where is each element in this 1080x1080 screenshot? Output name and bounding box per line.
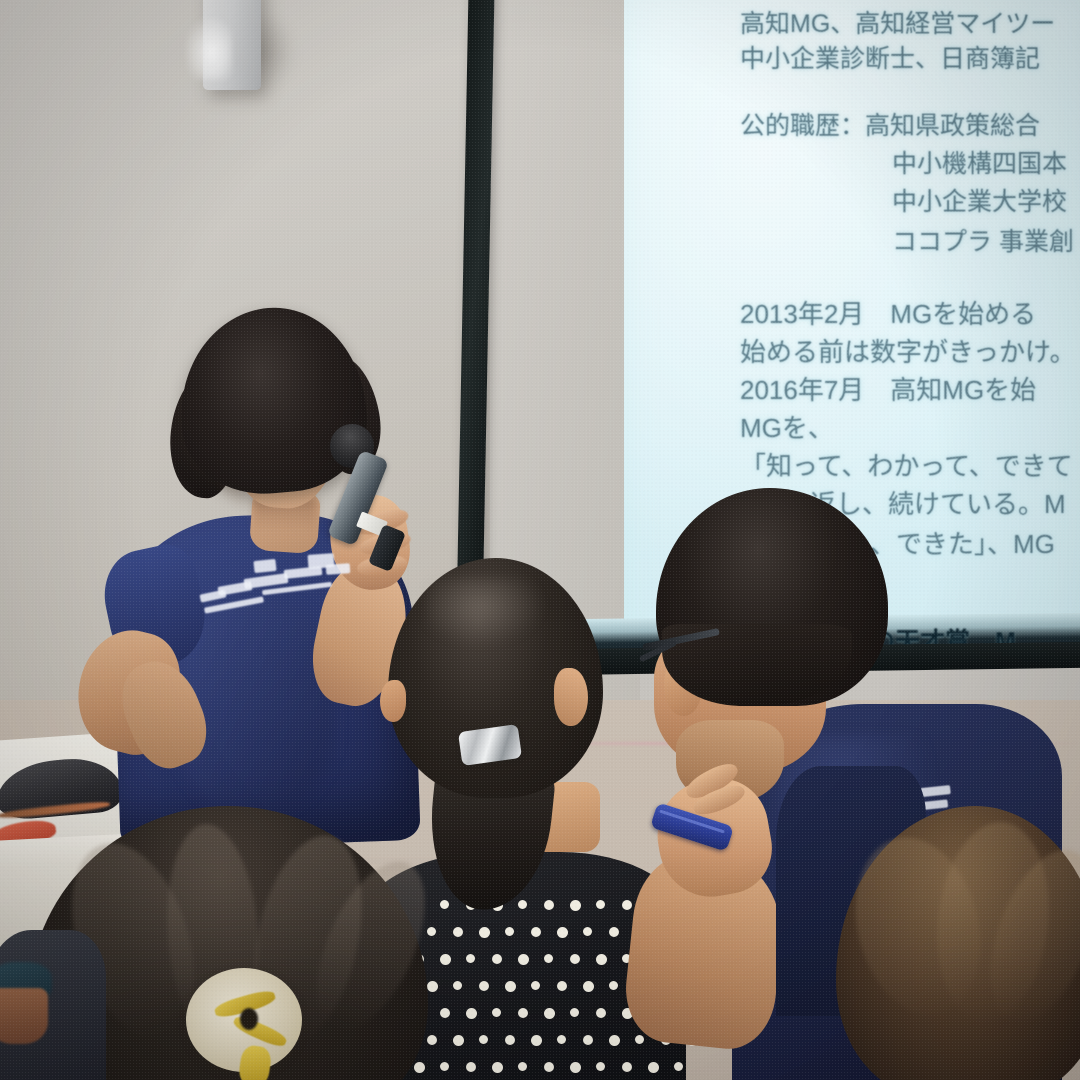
polka-dot [609, 1035, 620, 1046]
polka-dot [518, 954, 529, 965]
slide-line-0: 高知MG、高知経営マイツー [740, 4, 1055, 40]
polka-dot [596, 1062, 605, 1071]
polka-dot [557, 981, 567, 991]
polka-dot [544, 954, 553, 963]
slide-line-1: 中小企業診断士、日商簿記 [740, 39, 1040, 75]
polka-dot [622, 1062, 632, 1072]
polka-dot [570, 900, 581, 911]
polka-dot [505, 927, 514, 936]
polka-dot [557, 927, 568, 938]
polka-dot [609, 981, 618, 990]
left-edge-brown-object [0, 988, 48, 1044]
polka-dot [479, 1035, 488, 1044]
polka-dot [544, 900, 554, 910]
claw-clip-opening [240, 1008, 258, 1030]
presenter-shirt-graphic [196, 552, 356, 618]
polka-dot [544, 1062, 554, 1072]
slide-line-6: 2013年2月 MGを始める [740, 294, 1036, 331]
polka-dot [596, 954, 607, 965]
polka-dot [466, 1062, 476, 1072]
polka-dot [453, 927, 463, 937]
polka-dot [518, 900, 527, 909]
polka-dot [492, 954, 502, 964]
slide-line-10: 「知って、わかって、できて [740, 446, 1073, 483]
slide-line-8: 2016年7月 高知MGを始 [740, 370, 1036, 407]
polka-dot [570, 954, 580, 964]
slide-line-3: 中小機構四国本 [892, 144, 1067, 180]
audience-person-brown-hair [828, 796, 1080, 1080]
wall-speaker-glow [186, 18, 232, 80]
slide-line-2: 公的職歴：高知県政策総合 [740, 106, 1040, 142]
slide-line-7: 始める前は数字がきっかけ。 [740, 332, 1076, 369]
polka-dot [505, 981, 516, 992]
polka-dot [557, 1035, 566, 1044]
polka-dot [505, 1035, 515, 1045]
polka-dot [518, 1008, 528, 1018]
polka-dot [570, 1062, 581, 1073]
photo-scene: 高知MG、高知経営マイツー中小企業診断士、日商簿記公的職歴：高知県政策総合中小機… [0, 0, 1080, 1080]
ponytail-woman-ear-left [380, 680, 406, 722]
ponytail-woman-ear-right [554, 668, 588, 726]
polka-dot [466, 954, 475, 963]
polka-dot [479, 981, 489, 991]
slide-line-9: MGを、 [740, 408, 834, 445]
polka-dot [583, 981, 594, 992]
ponytail-hair-shine [426, 578, 546, 646]
polka-dot [622, 900, 632, 910]
polka-dot [479, 927, 490, 938]
polka-dot [544, 1008, 555, 1019]
polka-dot [531, 927, 541, 937]
slide-line-4: 中小企業大学校 [892, 182, 1067, 218]
polka-dot [583, 1035, 593, 1045]
slide-line-5: ココプラ 事業創 [892, 222, 1074, 258]
polka-dot [531, 1035, 542, 1046]
polka-dot [492, 1062, 503, 1073]
polka-dot [453, 1035, 464, 1046]
polka-dot [609, 927, 619, 937]
polka-dot [531, 981, 540, 990]
presenter-hair [172, 300, 372, 500]
polka-dot [492, 1008, 501, 1017]
polka-dot [596, 900, 605, 909]
polka-dot [570, 1008, 579, 1017]
polka-dot [583, 927, 592, 936]
polka-dot [466, 1008, 477, 1019]
polka-dot [518, 1062, 527, 1071]
polka-dot [596, 1008, 606, 1018]
polka-dot [453, 981, 462, 990]
